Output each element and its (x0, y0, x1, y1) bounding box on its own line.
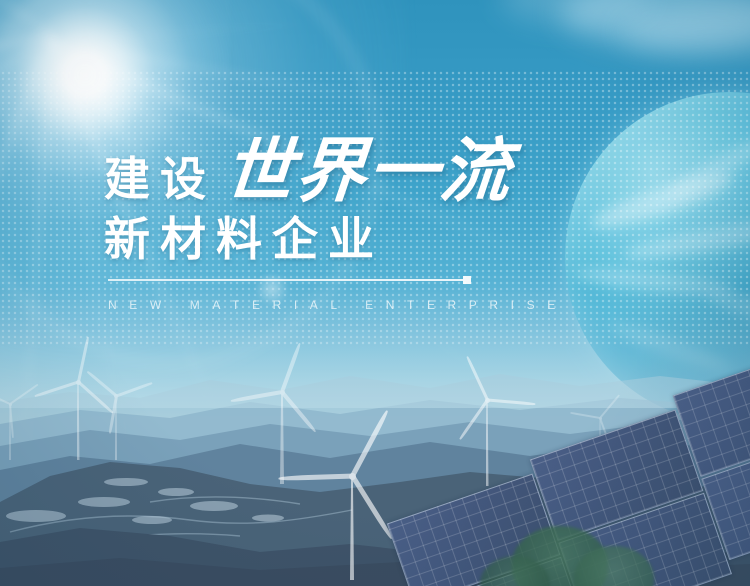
headline-line-2: 新材料企业 (104, 216, 384, 262)
headline-emphasis: 世界一流 (221, 136, 515, 206)
divider-line (108, 279, 463, 281)
hero-banner: 建设 世界一流 新材料企业 NEW MATERIAL ENTERPRISE (0, 0, 750, 586)
headline-block: 建设 世界一流 新材料企业 NEW MATERIAL ENTERPRISE (0, 0, 750, 586)
subtitle-text: NEW MATERIAL ENTERPRISE (108, 298, 568, 312)
headline-prefix: 建设 (104, 156, 216, 202)
divider-cap (463, 276, 471, 284)
headline-line-1: 建设 世界一流 (104, 136, 512, 206)
